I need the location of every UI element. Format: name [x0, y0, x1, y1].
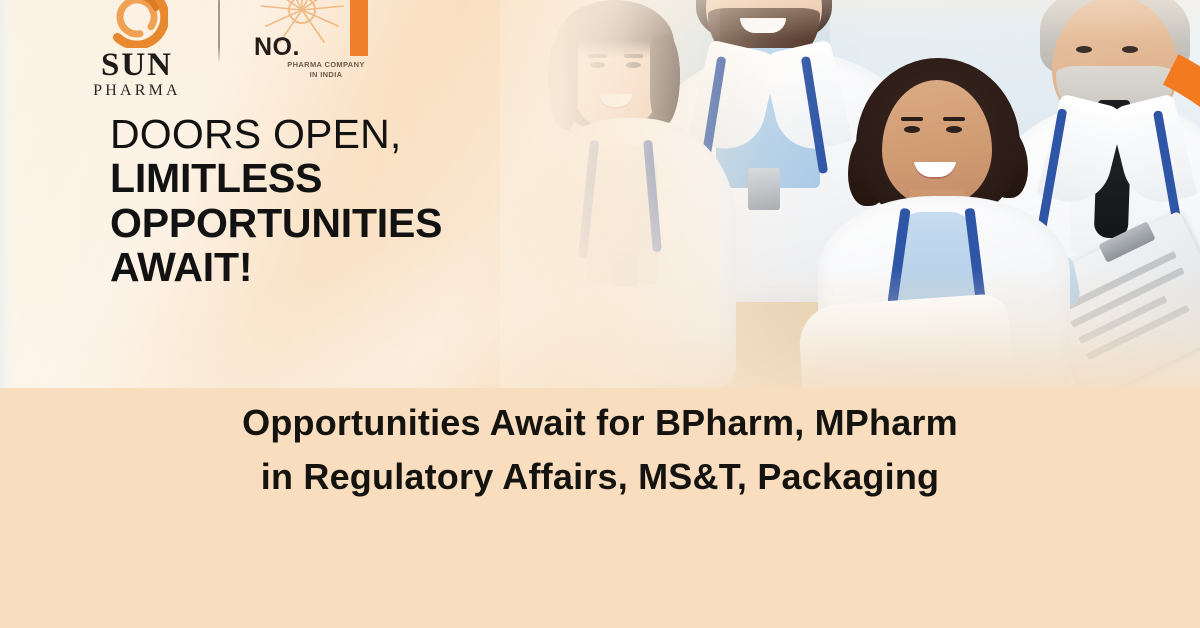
person-man-beard-id-badge: [748, 168, 780, 210]
person-woman-brown-hair-side-left: [548, 34, 578, 130]
banner-left-edge-highlight: [0, 0, 16, 388]
person-woman-brown-eye-right: [626, 62, 641, 68]
no1-prefix-row: NO.: [254, 35, 300, 60]
no1-caption-line-2: IN INDIA: [310, 70, 343, 79]
no1-caption-line-1: PHARMA COMPANY: [287, 60, 364, 69]
team-photo: [500, 0, 1200, 388]
caption-text: Opportunities Await for BPharm, MPharm i…: [0, 396, 1200, 504]
headline-line-2: LIMITLESS: [110, 156, 442, 200]
no1-prefix-label: NO.: [254, 35, 300, 60]
headline-line-4: AWAIT!: [110, 245, 442, 289]
no1-numeral-icon: [324, 0, 370, 56]
brand-logo-lockup: SUN PHARMA: [76, 0, 396, 100]
caption-line-2: in Regulatory Affairs, MS&T, Packaging: [0, 450, 1200, 504]
hero-headline: DOORS OPEN, LIMITLESS OPPORTUNITIES AWAI…: [110, 112, 442, 289]
person-senior-man-eye-right: [1122, 46, 1138, 53]
person-woman-curly-brow-right: [943, 117, 965, 121]
headline-line-1: DOORS OPEN,: [110, 112, 442, 156]
sun-pharma-subtitle: PHARMA: [93, 82, 181, 100]
person-senior-man-eye-left: [1076, 46, 1092, 53]
logo-divider: [218, 0, 220, 62]
team-photo-illustration: [500, 0, 1200, 388]
sun-wordmark: SUN: [101, 50, 173, 81]
person-woman-brown-eye-left: [590, 62, 605, 68]
caption-line-1: Opportunities Await for BPharm, MPharm: [0, 396, 1200, 450]
no1-caption: PHARMA COMPANY IN INDIA: [254, 60, 398, 80]
person-woman-curly-eye-left: [904, 126, 920, 133]
promo-poster: SUN PHARMA: [0, 0, 1200, 628]
no1-pharma-company-logo: NO. PHARMA COMPANY IN INDIA: [246, 0, 396, 86]
person-woman-brown-brow-right: [624, 54, 643, 58]
person-woman-curly-brow-left: [901, 117, 923, 121]
person-woman-brown-brow-left: [588, 54, 607, 58]
sun-pharma-logo: SUN PHARMA: [76, 0, 198, 100]
headline-line-3: OPPORTUNITIES: [110, 201, 442, 245]
person-woman-curly-eye-right: [946, 126, 962, 133]
person-woman-curly-folded-arms: [797, 293, 1013, 388]
banner-hero: SUN PHARMA: [0, 0, 1200, 388]
sun-swirl-icon: [106, 0, 168, 48]
caption-band: Opportunities Await for BPharm, MPharm i…: [0, 388, 1200, 628]
person-woman-brown-id-badge: [612, 252, 638, 286]
